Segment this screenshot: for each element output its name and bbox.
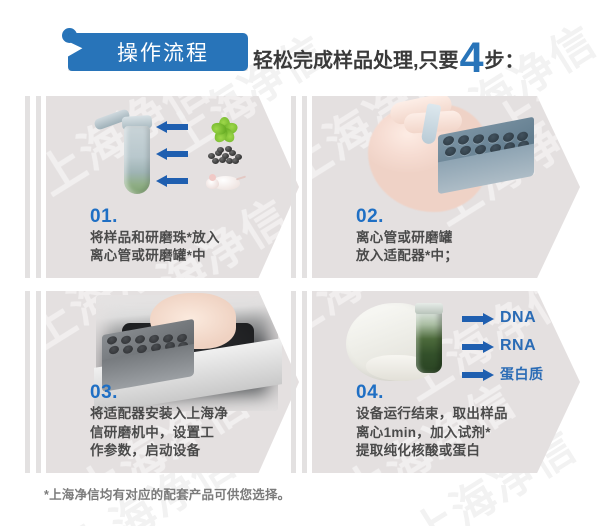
output-item: 蛋白质 bbox=[462, 363, 544, 385]
step-line: 提取纯化核酸或蛋白 bbox=[356, 442, 580, 461]
step-line: 设备运行结束，取出样品 bbox=[356, 405, 580, 424]
arrow-right-icon bbox=[462, 313, 494, 324]
side-bar bbox=[291, 291, 296, 473]
headline-before-text: 轻松完成样品处理,只要 bbox=[253, 51, 459, 71]
step-number: 04. bbox=[356, 383, 580, 403]
card-side-bars bbox=[24, 291, 46, 473]
step-caption-01: 01. 将样品和研磨珠*放入 离心管或研磨罐*中 bbox=[90, 207, 290, 266]
card-side-bars bbox=[290, 291, 312, 473]
card-chevron-body: 上海净信 上海净信 上海净信 bbox=[46, 96, 299, 278]
step-line: 作参数，启动设备 bbox=[90, 442, 290, 461]
side-bar bbox=[291, 96, 296, 278]
step-number: 03. bbox=[90, 383, 290, 403]
sample-arrows bbox=[156, 118, 276, 196]
step-description: 将适配器安装入上海净 信研磨机中，设置工 作参数，启动设备 bbox=[90, 405, 290, 461]
side-bar bbox=[25, 96, 30, 278]
header: 操作流程 轻松完成样品处理,只要 4 步： bbox=[0, 0, 600, 88]
output-label: 蛋白质 bbox=[500, 364, 544, 384]
step-description: 设备运行结束，取出样品 离心1min，加入试剂* 提取纯化核酸或蛋白 bbox=[356, 405, 580, 461]
step-description: 离心管或研磨罐 放入适配器*中； bbox=[356, 229, 556, 266]
step-line: 信研磨机中，设置工 bbox=[90, 424, 290, 443]
sample-tube-icon bbox=[416, 311, 442, 373]
side-bar bbox=[36, 96, 41, 278]
step-number: 02. bbox=[356, 207, 556, 227]
output-item: RNA bbox=[462, 335, 536, 357]
step-line: 将适配器安装入上海净 bbox=[90, 405, 290, 424]
step-caption-04: 04. 设备运行结束，取出样品 离心1min，加入试剂* 提取纯化核酸或蛋白 bbox=[356, 383, 580, 461]
step-media-02 bbox=[312, 96, 580, 218]
headline-step-count: 4 bbox=[460, 41, 484, 76]
side-bar bbox=[302, 291, 307, 473]
arrow-left-icon bbox=[156, 121, 188, 132]
step-line: 离心管或研磨罐*中 bbox=[90, 247, 290, 266]
step-caption-03: 03. 将适配器安装入上海净 信研磨机中，设置工 作参数，启动设备 bbox=[90, 383, 290, 461]
output-label: DNA bbox=[500, 309, 536, 327]
card-chevron-body: 上海净信 上海净信 上海净信 bbox=[312, 96, 580, 278]
card-chevron-body: 上海净信 上海净信 上海净信 bbox=[46, 291, 299, 473]
headline-after-text: 步： bbox=[484, 51, 524, 71]
step-line: 离心管或研磨罐 bbox=[356, 229, 556, 248]
card-side-bars bbox=[24, 96, 46, 278]
arrow-left-icon bbox=[156, 148, 188, 159]
step-card-01[interactable]: 上海净信 上海净信 上海净信 bbox=[24, 96, 299, 278]
side-bar bbox=[36, 291, 41, 473]
white-mouse-icon bbox=[202, 168, 246, 196]
step-card-04[interactable]: 上海净信 上海净信 上海净信 DNA bbox=[290, 291, 582, 473]
step-line: 放入适配器*中； bbox=[356, 247, 556, 266]
centrifuge-tube-icon bbox=[124, 116, 150, 194]
step-card-03[interactable]: 上海净信 上海净信 上海净信 bbox=[24, 291, 299, 473]
arrow-right-icon bbox=[462, 341, 494, 352]
side-bar bbox=[25, 291, 30, 473]
output-label: RNA bbox=[500, 337, 536, 355]
output-item: DNA bbox=[462, 307, 536, 329]
side-bar bbox=[302, 96, 307, 278]
promo-infographic-page: 上海净信 上海净信 上海净信 上海净信 操作流程 轻松完成样品处理,只要 4 步… bbox=[0, 0, 600, 526]
headline: 轻松完成样品处理,只要 4 步： bbox=[253, 30, 524, 76]
step-line: 将样品和研磨珠*放入 bbox=[90, 229, 290, 248]
step-card-02[interactable]: 上海净信 上海净信 上海净信 bbox=[290, 96, 582, 278]
footnote: *上海净信均有对应的配套产品可供您选择。 bbox=[44, 484, 290, 503]
card-chevron-body: 上海净信 上海净信 上海净信 DNA bbox=[312, 291, 580, 473]
arrow-right-icon bbox=[462, 369, 494, 380]
arrow-left-icon bbox=[156, 175, 188, 186]
step-caption-02: 02. 离心管或研磨罐 放入适配器*中； bbox=[356, 207, 556, 266]
card-side-bars bbox=[290, 96, 312, 278]
grinding-beads-icon bbox=[202, 142, 246, 170]
green-leaf-icon bbox=[202, 114, 246, 142]
output-list: DNA RNA 蛋白质 bbox=[462, 307, 580, 391]
step-media-01 bbox=[46, 96, 299, 218]
step-line: 离心1min，加入试剂* bbox=[356, 424, 580, 443]
steps-grid: 上海净信 上海净信 上海净信 bbox=[0, 88, 600, 478]
step-description: 将样品和研磨珠*放入 离心管或研磨罐*中 bbox=[90, 229, 290, 266]
ribbon-title: 操作流程 bbox=[68, 33, 248, 71]
step-number: 01. bbox=[90, 207, 290, 227]
